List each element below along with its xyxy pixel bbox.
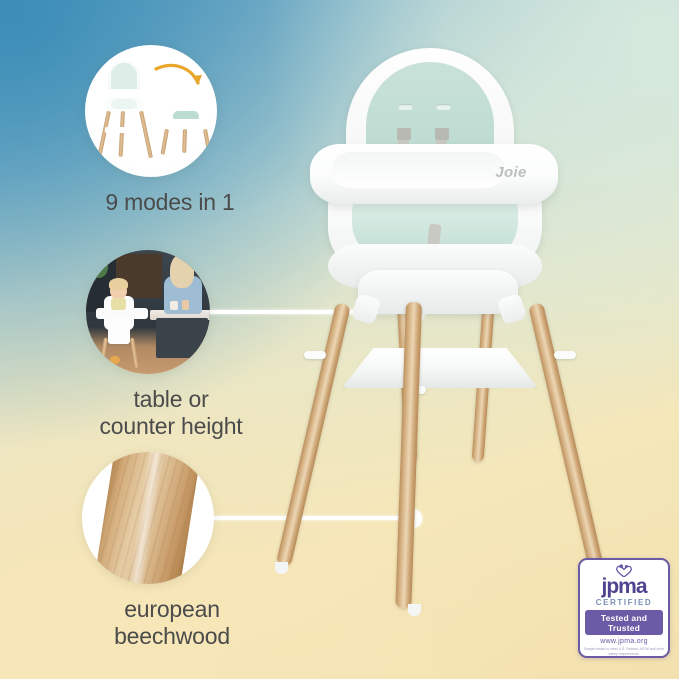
callout-wood-image (82, 452, 214, 584)
callout-height: table or counter height (86, 250, 256, 440)
callout-height-caption-line1: table or (86, 386, 256, 413)
kitchen-floor-toy (110, 356, 120, 364)
kitchen-cup-1 (170, 301, 178, 310)
photo-chair-leg-2 (130, 338, 139, 368)
callout-wood: european beechwood (82, 452, 262, 650)
callout-wood-caption-line1: european (82, 596, 262, 623)
leg-socket-front-right (497, 293, 528, 325)
baby-hair (109, 278, 128, 290)
mini-leg-2 (139, 111, 153, 159)
callout-wood-caption-line2: beechwood (82, 623, 262, 650)
kitchen-counter-base (156, 318, 208, 358)
chair-leg-front-left (276, 302, 351, 567)
mini2-leg-3 (182, 129, 187, 153)
kitchen-plant (90, 256, 108, 278)
leg-cap-front-left (275, 562, 288, 574)
chair-storage-shelf (342, 348, 538, 388)
leg-ring-left (304, 351, 326, 359)
jpma-wordmark: jpma (601, 578, 646, 597)
transform-arrow-icon (153, 63, 205, 95)
jpma-certification-badge: jpma CERTIFIED Tested and Trusted www.jp… (578, 558, 670, 658)
jpma-certified-label: CERTIFIED (596, 598, 653, 607)
mini-leg-1 (97, 111, 111, 159)
product-high-chair: Joie (270, 48, 630, 608)
mini2-leg-2 (203, 129, 211, 155)
mini2-leg-1 (161, 129, 169, 155)
highchair-base-in-photo (108, 318, 130, 344)
leg-ring-right (554, 351, 576, 359)
harness-buckle-left (397, 128, 411, 140)
callout-modes: 9 modes in 1 (85, 45, 255, 216)
photo-chair-leg-1 (99, 338, 108, 368)
harness-slot-right (436, 104, 451, 110)
product-marketing-image: Joie (0, 0, 679, 679)
callout-wood-caption: european beechwood (82, 596, 262, 650)
mini-shelf (105, 127, 143, 133)
kitchen-scene (86, 250, 210, 374)
brand-logo-joie: Joie (478, 164, 544, 181)
mini-leg-3 (119, 111, 125, 157)
jpma-url: www.jpma.org (600, 638, 648, 645)
callout-modes-image (85, 45, 217, 177)
jpma-tagline: Tested and Trusted (585, 610, 663, 635)
leg-cap-foreground (408, 604, 421, 616)
callout-modes-caption: 9 modes in 1 (85, 189, 255, 216)
baby-bib (111, 298, 126, 310)
harness-buckle-right (435, 128, 449, 140)
harness-slot-left (398, 104, 413, 110)
mini-chair-highchair-mode (95, 61, 159, 161)
chair-leg-front-right (528, 302, 603, 567)
callout-height-caption-line2: counter height (86, 413, 256, 440)
kitchen-cup-2 (182, 300, 189, 310)
jpma-fine-print: Sample tested to meet U.S. Federal, ASTM… (582, 647, 666, 656)
adult-hair (170, 254, 194, 288)
mini-chair-toddler-mode (161, 97, 215, 159)
callout-height-caption: table or counter height (86, 386, 256, 440)
chair-base-hub (358, 270, 518, 314)
callout-height-image (86, 250, 210, 374)
